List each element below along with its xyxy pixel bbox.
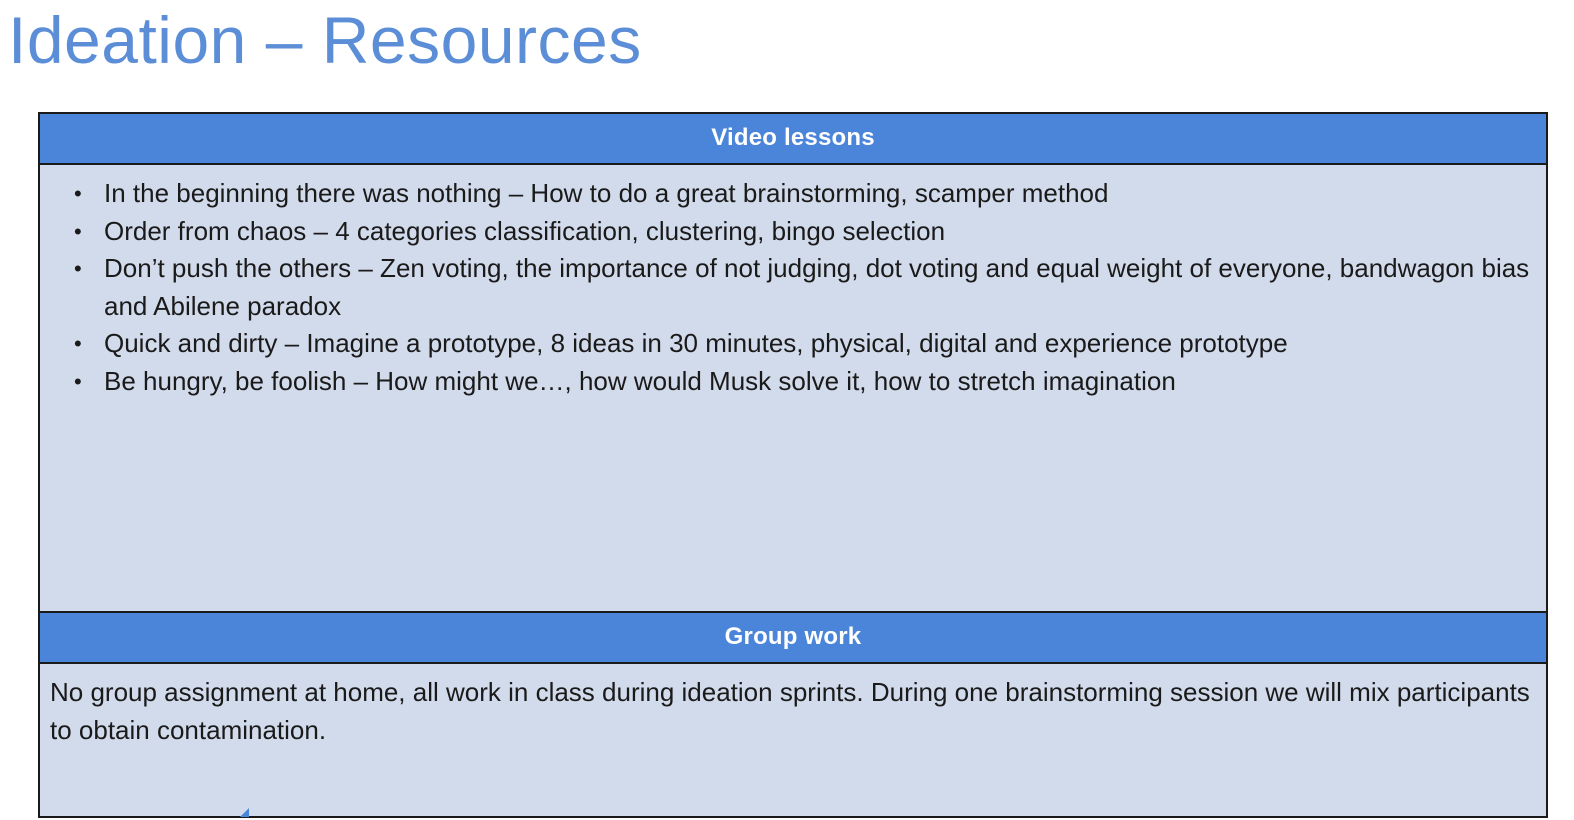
list-item: Order from chaos – 4 categories classifi… xyxy=(52,213,1534,251)
section-group-work: Group work No group assignment at home, … xyxy=(40,611,1546,816)
section-video-lessons: Video lessons In the beginning there was… xyxy=(40,114,1546,611)
list-item: Quick and dirty – Imagine a prototype, 8… xyxy=(52,325,1534,363)
group-work-paragraph: No group assignment at home, all work in… xyxy=(50,674,1536,749)
list-item: Don’t push the others – Zen voting, the … xyxy=(52,250,1534,325)
list-item: Be hungry, be foolish – How might we…, h… xyxy=(52,363,1534,401)
list-item: In the beginning there was nothing – How… xyxy=(52,175,1534,213)
section-body-group-work: No group assignment at home, all work in… xyxy=(40,664,1546,816)
page-title: Ideation – Resources xyxy=(8,0,642,82)
section-body-video-lessons: In the beginning there was nothing – How… xyxy=(40,165,1546,611)
resources-table: Video lessons In the beginning there was… xyxy=(38,112,1548,818)
section-header-group-work: Group work xyxy=(40,611,1546,664)
section-header-video-lessons: Video lessons xyxy=(40,114,1546,165)
video-lessons-list: In the beginning there was nothing – How… xyxy=(52,175,1534,400)
